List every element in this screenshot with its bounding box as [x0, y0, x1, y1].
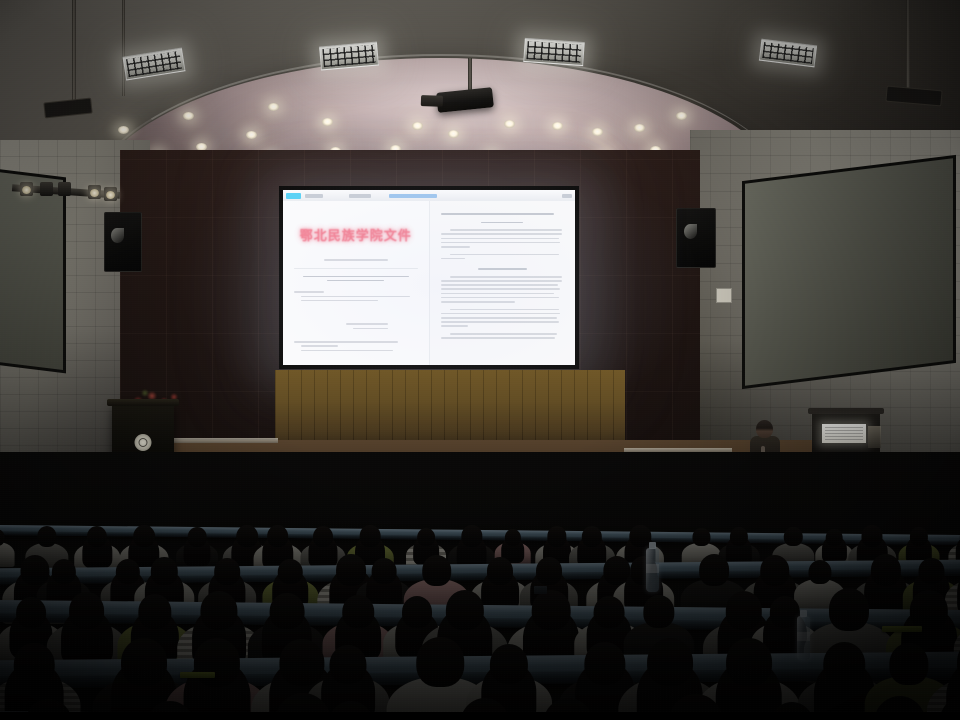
doc-divider: [294, 268, 418, 269]
ceiling-hanger-rod: [906, 0, 910, 92]
document-page-right: [429, 201, 576, 365]
lecture-hall-photo: 鄂北民族学院文件: [0, 0, 960, 720]
toolbar-menu-item[interactable]: [349, 194, 371, 198]
wall-speaker-right: [676, 208, 716, 268]
stage-light: [20, 182, 33, 196]
audience-head: [532, 590, 571, 631]
doc-signature-block: [294, 323, 418, 329]
audience-head: [87, 526, 107, 547]
audience-head: [372, 558, 397, 584]
document-pages: 鄂北民族学院文件: [283, 201, 575, 365]
recessed-downlight: [448, 130, 459, 138]
wall-outlet-plate: [716, 288, 732, 303]
audience-head: [547, 526, 566, 546]
document-red-title: 鄂北民族学院文件: [294, 225, 418, 244]
doc-paragraph: [441, 309, 565, 327]
toolbar-menu-item[interactable]: [305, 194, 323, 198]
audience-head: [829, 588, 869, 630]
recessed-downlight: [246, 131, 257, 139]
wall-speaker-left: [104, 212, 142, 272]
audience-seating-area: [0, 452, 960, 720]
side-projection-screen-left: [0, 167, 66, 374]
presenter-head: [756, 420, 773, 438]
recessed-downlight: [118, 126, 129, 134]
side-projection-screen-right: [742, 155, 956, 389]
notebook: [882, 626, 922, 632]
university-crest-icon: [135, 434, 152, 451]
lectern-top: [107, 399, 179, 406]
recessed-downlight: [504, 120, 515, 128]
doc-paragraph: [294, 341, 418, 351]
audience-head: [582, 526, 602, 547]
recessed-downlight: [634, 124, 645, 132]
cabinet-side-panel: [868, 426, 881, 448]
recessed-downlight: [676, 112, 687, 120]
doc-paragraph: [441, 276, 565, 303]
document-link[interactable]: [389, 194, 437, 198]
recessed-downlight: [592, 128, 603, 136]
stage-light: [40, 182, 53, 196]
ceiling-hanger-rod: [72, 0, 76, 108]
ceiling-light-panel: [319, 42, 379, 71]
doc-paragraph: [441, 229, 565, 247]
projected-document: 鄂北民族学院文件: [283, 190, 575, 365]
doc-subtitle-block: [294, 259, 418, 261]
ceiling-hanger-rod: [122, 0, 125, 96]
water-bottle: [646, 548, 659, 592]
audience-head: [14, 643, 54, 685]
audience-head: [16, 597, 46, 628]
doc-paragraph: [441, 333, 565, 339]
audience-head: [121, 638, 167, 686]
stage-light: [88, 185, 101, 199]
recessed-downlight: [412, 122, 423, 130]
water-bottle: [797, 616, 810, 660]
doc-paragraph: [294, 276, 418, 282]
doc-paragraph: [441, 254, 565, 260]
audience-head: [133, 525, 155, 548]
stage-light: [104, 187, 117, 201]
document-page-left: 鄂北民族学院文件: [283, 201, 429, 365]
recessed-downlight: [322, 118, 333, 126]
audience-head: [188, 527, 207, 547]
photo-bottom-border: [0, 712, 960, 720]
notebook: [180, 672, 215, 678]
toolbar-menu-item[interactable]: [562, 194, 572, 198]
audience-head: [826, 529, 843, 546]
viewer-accent-chip[interactable]: [286, 193, 301, 199]
main-projection-screen: 鄂北民族学院文件: [279, 186, 579, 369]
recessed-downlight: [552, 122, 563, 130]
cabinet-top: [808, 408, 884, 414]
doc-paragraph: [294, 291, 418, 301]
audience-head: [194, 638, 240, 686]
recessed-downlight: [268, 103, 279, 111]
stage-light: [58, 182, 71, 196]
ceiling-light-panel: [523, 38, 585, 66]
audience-head: [267, 525, 289, 548]
control-monitor: [822, 424, 866, 443]
audience-head: [505, 529, 521, 546]
audience-head: [630, 525, 651, 547]
stage-front-panel: [275, 370, 625, 448]
phone: [534, 586, 547, 594]
recessed-downlight: [183, 112, 194, 120]
